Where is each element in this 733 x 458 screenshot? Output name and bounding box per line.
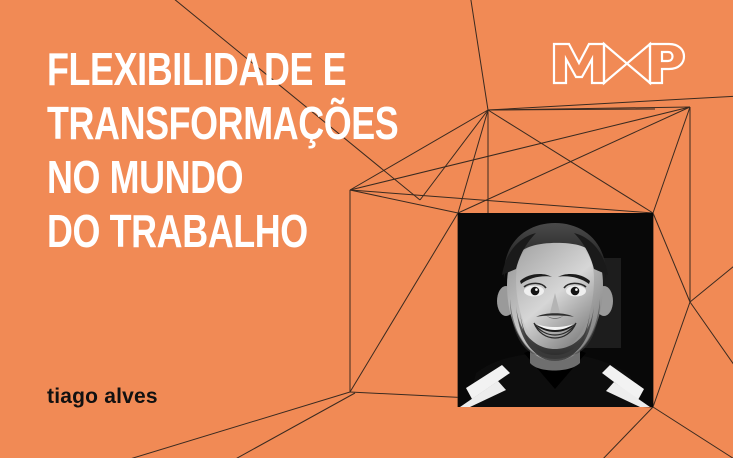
speaker-name: tiago alves — [47, 385, 158, 409]
title-line-4: DO TRABALHO — [47, 204, 312, 258]
portrait-illustration — [458, 213, 653, 407]
title-line-2: TRANSFORMAÇÕES — [47, 96, 312, 150]
title-line-1: FLEXIBILIDADE E — [47, 42, 312, 96]
title-line-3: NO MUNDO — [47, 150, 312, 204]
speaker-portrait — [458, 213, 653, 407]
poster-canvas: FLEXIBILIDADE E TRANSFORMAÇÕES NO MUNDO … — [0, 0, 733, 458]
mxp-logo — [551, 41, 687, 86]
page-title: FLEXIBILIDADE E TRANSFORMAÇÕES NO MUNDO … — [47, 42, 387, 258]
